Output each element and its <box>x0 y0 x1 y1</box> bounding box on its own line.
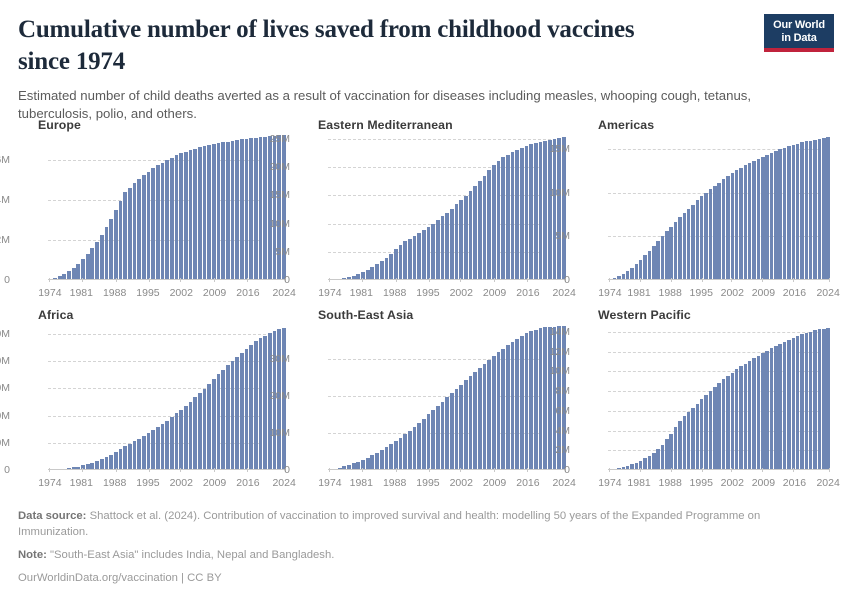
bar[interactable] <box>450 209 454 280</box>
y-axis-tick-label: 15M <box>270 189 290 201</box>
bar[interactable] <box>557 138 561 280</box>
bar[interactable] <box>142 175 146 280</box>
x-axis-tick-label: 1981 <box>627 287 650 299</box>
bar[interactable] <box>203 389 207 471</box>
bar[interactable] <box>696 404 699 470</box>
y-axis: 05M10M15M20M25M <box>294 136 324 280</box>
bar[interactable] <box>170 158 174 280</box>
bar[interactable] <box>778 149 781 280</box>
bar[interactable] <box>761 353 764 470</box>
bar[interactable] <box>142 436 146 470</box>
bar[interactable] <box>445 397 449 470</box>
bar[interactable] <box>478 368 482 470</box>
x-axis-tick-mark <box>362 278 363 282</box>
bar[interactable] <box>235 357 239 470</box>
bar[interactable] <box>259 338 263 470</box>
x-axis-tick-label: 1981 <box>350 287 373 299</box>
logo-line-2: in Data <box>768 32 830 45</box>
bar[interactable] <box>543 141 547 280</box>
bar[interactable] <box>189 150 193 280</box>
bar[interactable] <box>539 328 543 470</box>
bar[interactable] <box>105 227 109 280</box>
plot-area <box>328 136 566 280</box>
bar[interactable] <box>380 450 384 470</box>
bar[interactable] <box>700 196 703 280</box>
x-axis-tick-mark <box>609 468 610 472</box>
bar[interactable] <box>696 200 699 280</box>
bar[interactable] <box>562 137 566 280</box>
x-axis-tick-mark <box>116 468 117 472</box>
bar[interactable] <box>394 441 398 470</box>
plot-wrap: 02M4M6M8M10M12M14M1974198119881995200220… <box>574 326 830 470</box>
bar[interactable] <box>259 137 263 280</box>
panel-americas: Americas05M10M15M19741981198819952002200… <box>574 116 838 306</box>
bar[interactable] <box>193 149 197 280</box>
bar[interactable] <box>254 138 258 280</box>
bar[interactable] <box>529 144 533 280</box>
bar[interactable] <box>687 412 690 470</box>
bar[interactable] <box>534 143 538 280</box>
bar[interactable] <box>128 188 132 280</box>
bar[interactable] <box>431 410 435 470</box>
bar[interactable] <box>151 430 155 470</box>
bar[interactable] <box>282 135 286 280</box>
bar[interactable] <box>170 417 174 470</box>
bar[interactable] <box>483 364 487 470</box>
bar[interactable] <box>469 376 473 470</box>
bar[interactable] <box>800 142 803 280</box>
bar[interactable] <box>774 151 777 280</box>
bar[interactable] <box>635 264 638 280</box>
bar[interactable] <box>678 421 681 471</box>
bar[interactable] <box>175 155 179 280</box>
y-axis-tick-label: 2M <box>0 234 10 246</box>
bar[interactable] <box>744 165 747 280</box>
bar[interactable] <box>731 373 734 470</box>
bar[interactable] <box>487 360 491 470</box>
bar[interactable] <box>161 163 165 280</box>
bar[interactable] <box>525 333 529 470</box>
y-axis-tick-label: 0 <box>564 464 570 476</box>
bar[interactable] <box>683 416 686 470</box>
bar[interactable] <box>436 406 440 470</box>
bar[interactable] <box>739 168 742 280</box>
x-axis-tick-label: 2002 <box>721 287 744 299</box>
y-axis-tick-label: 20M <box>270 161 290 173</box>
panel-title: South-East Asia <box>318 306 574 322</box>
bar[interactable] <box>822 138 825 280</box>
bar[interactable] <box>422 230 426 280</box>
bar[interactable] <box>783 342 786 470</box>
bar[interactable] <box>683 213 686 280</box>
x-axis-tick-mark <box>527 278 528 282</box>
x-axis-tick-mark <box>82 278 83 282</box>
bar[interactable] <box>818 139 821 280</box>
bar[interactable] <box>249 138 253 280</box>
bar[interactable] <box>748 361 751 470</box>
bar[interactable] <box>648 251 651 280</box>
bar[interactable] <box>268 136 272 280</box>
bar[interactable] <box>520 148 524 280</box>
x-axis-tick-label: 2024 <box>816 477 839 489</box>
bar[interactable] <box>198 147 202 280</box>
bar[interactable] <box>175 413 179 470</box>
bar[interactable] <box>417 233 421 280</box>
y-axis-tick-label: 5M <box>275 246 290 258</box>
bar[interactable] <box>813 330 816 470</box>
x-axis-tick-label: 2009 <box>752 287 775 299</box>
logo-line-1: Our World <box>768 19 830 32</box>
y-axis-tick-label: 12M <box>550 346 570 358</box>
bar[interactable] <box>669 227 672 280</box>
bar[interactable] <box>656 241 659 280</box>
bar[interactable] <box>179 153 183 280</box>
bar[interactable] <box>735 170 738 280</box>
y-axis-tick-label: 30M <box>0 382 10 394</box>
bar[interactable] <box>792 338 795 470</box>
bar[interactable] <box>469 191 473 280</box>
x-axis-tick-label: 2016 <box>783 287 806 299</box>
bar[interactable] <box>722 379 725 470</box>
bar[interactable] <box>765 155 768 280</box>
bar[interactable] <box>156 165 160 280</box>
bar[interactable] <box>100 235 104 280</box>
bar[interactable] <box>553 139 557 280</box>
bar[interactable] <box>748 163 751 280</box>
bar[interactable] <box>385 447 389 470</box>
bar[interactable] <box>147 433 151 470</box>
panel-title: Europe <box>38 116 294 132</box>
bar[interactable] <box>207 384 211 470</box>
bar[interactable] <box>249 345 253 470</box>
bar[interactable] <box>203 146 207 280</box>
bar[interactable] <box>198 393 202 470</box>
bar[interactable] <box>403 241 407 280</box>
bar[interactable] <box>757 159 760 280</box>
bar[interactable] <box>455 389 459 470</box>
bar[interactable] <box>783 148 786 280</box>
bar[interactable] <box>739 366 742 470</box>
bar[interactable] <box>752 358 755 470</box>
bar[interactable] <box>501 157 505 280</box>
x-axis-tick-mark <box>116 278 117 282</box>
bar[interactable] <box>717 183 720 280</box>
bar[interactable] <box>674 222 677 280</box>
bar[interactable] <box>165 421 169 470</box>
bar[interactable] <box>277 135 281 280</box>
x-axis-tick-label: 2002 <box>450 287 473 299</box>
bar[interactable] <box>501 349 505 470</box>
bar[interactable] <box>464 196 468 280</box>
bar[interactable] <box>86 254 90 280</box>
bar[interactable] <box>515 339 519 470</box>
bar[interactable] <box>137 439 141 470</box>
bar[interactable] <box>147 172 151 280</box>
bar[interactable] <box>394 249 398 280</box>
bar[interactable] <box>652 453 655 470</box>
bar[interactable] <box>735 369 738 470</box>
bar[interactable] <box>678 217 681 280</box>
owid-logo[interactable]: Our World in Data <box>764 14 834 52</box>
bar[interactable] <box>417 423 421 470</box>
bar[interactable] <box>757 356 760 470</box>
bar[interactable] <box>826 137 829 280</box>
bar[interactable] <box>709 189 712 280</box>
x-axis-tick-mark <box>731 468 732 472</box>
bar[interactable] <box>674 427 677 470</box>
bar[interactable] <box>661 445 664 470</box>
bar[interactable] <box>464 380 468 470</box>
bar[interactable] <box>809 332 812 470</box>
bar[interactable] <box>240 139 244 280</box>
x-axis-tick-label: 1974 <box>38 287 61 299</box>
bar[interactable] <box>221 142 225 280</box>
bar[interactable] <box>713 186 716 280</box>
bar[interactable] <box>427 414 431 470</box>
bar[interactable] <box>506 345 510 470</box>
x-axis-tick-label: 1974 <box>318 287 341 299</box>
data-source-label: Data source: <box>18 510 86 522</box>
bar[interactable] <box>643 255 646 280</box>
bar[interactable] <box>661 236 664 280</box>
bar[interactable] <box>212 144 216 280</box>
bar[interactable] <box>726 176 729 280</box>
bar[interactable] <box>506 155 510 280</box>
x-axis-tick-label: 1988 <box>103 477 126 489</box>
bar[interactable] <box>380 261 384 280</box>
bar[interactable] <box>245 139 249 280</box>
bar[interactable] <box>427 227 431 280</box>
bar[interactable] <box>822 329 825 470</box>
bar[interactable] <box>403 434 407 470</box>
bar[interactable] <box>189 402 193 470</box>
bar[interactable] <box>652 246 655 280</box>
y-axis: 02M4M6M <box>14 136 44 280</box>
bar[interactable] <box>90 248 94 280</box>
bar[interactable] <box>709 391 712 470</box>
bar[interactable] <box>128 444 132 470</box>
bar[interactable] <box>375 453 379 470</box>
bar[interactable] <box>792 145 795 280</box>
bar[interactable] <box>263 336 267 470</box>
bar[interactable] <box>193 397 197 470</box>
bar[interactable] <box>184 406 188 470</box>
bar[interactable] <box>704 193 707 280</box>
bar[interactable] <box>179 410 183 470</box>
bar[interactable] <box>119 449 123 470</box>
footer-note: Note: "South-East Asia" includes India, … <box>18 547 832 563</box>
x-axis-tick-mark <box>527 468 528 472</box>
bar[interactable] <box>217 143 221 280</box>
bar[interactable] <box>744 364 747 470</box>
bar[interactable] <box>133 183 137 280</box>
bar[interactable] <box>413 427 417 470</box>
bar[interactable] <box>752 161 755 280</box>
bar[interactable] <box>778 344 781 470</box>
bar[interactable] <box>818 329 821 470</box>
bar[interactable] <box>254 341 258 470</box>
axis-baseline <box>48 469 286 470</box>
bar[interactable] <box>525 146 529 280</box>
x-axis-tick-label: 1995 <box>416 477 439 489</box>
bar[interactable] <box>787 340 790 470</box>
bar[interactable] <box>385 258 389 280</box>
bar[interactable] <box>389 254 393 280</box>
x-axis-tick-label: 1995 <box>136 477 159 489</box>
x-axis-tick-mark <box>214 468 215 472</box>
bar[interactable] <box>212 379 216 470</box>
bar[interactable] <box>217 374 221 470</box>
panel-europe: Europe02M4M6M197419811988199520022009201… <box>14 116 294 306</box>
bar[interactable] <box>399 438 403 470</box>
bar[interactable] <box>123 446 127 470</box>
bar[interactable] <box>511 342 515 470</box>
x-axis-tick-label: 1981 <box>627 477 650 489</box>
bar[interactable] <box>492 165 496 280</box>
x-axis-tick-mark <box>214 278 215 282</box>
bar[interactable] <box>492 356 496 470</box>
bar[interactable] <box>770 153 773 280</box>
panel-south-east-asia: South-East Asia010M20M30M197419811988199… <box>294 306 574 496</box>
bar[interactable] <box>413 236 417 280</box>
bar[interactable] <box>137 179 141 280</box>
bar[interactable] <box>123 192 127 280</box>
bar[interactable] <box>534 330 538 470</box>
bar[interactable] <box>805 333 808 470</box>
bar[interactable] <box>648 456 651 470</box>
bar[interactable] <box>700 399 703 470</box>
x-axis-tick-mark <box>247 468 248 472</box>
bar[interactable] <box>770 348 773 470</box>
plot-wrap: 05M10M15M20M25M1974198119881995200220092… <box>294 136 566 280</box>
bar[interactable] <box>459 385 463 470</box>
bar[interactable] <box>726 376 729 470</box>
bar[interactable] <box>704 395 707 470</box>
bar[interactable] <box>497 161 501 280</box>
bar[interactable] <box>399 245 403 280</box>
bar[interactable] <box>543 327 547 470</box>
bar[interactable] <box>691 408 694 470</box>
bar[interactable] <box>813 140 816 280</box>
bar[interactable] <box>548 140 552 280</box>
bar[interactable] <box>76 264 80 280</box>
bar[interactable] <box>487 170 491 280</box>
bar[interactable] <box>713 387 716 470</box>
bar[interactable] <box>441 402 445 470</box>
bar[interactable] <box>445 213 449 280</box>
bar[interactable] <box>455 204 459 280</box>
bar[interactable] <box>787 146 790 280</box>
plot-area <box>48 326 286 470</box>
axis-baseline <box>328 469 566 470</box>
bar[interactable] <box>691 205 694 280</box>
bar[interactable] <box>774 346 777 470</box>
bar[interactable] <box>119 201 123 280</box>
bar[interactable] <box>226 365 230 470</box>
bar[interactable] <box>240 353 244 470</box>
bar[interactable] <box>133 441 137 470</box>
bar[interactable] <box>478 181 482 280</box>
bar[interactable] <box>529 331 533 470</box>
bar[interactable] <box>761 157 764 280</box>
bar[interactable] <box>114 210 118 280</box>
bar[interactable] <box>422 419 426 471</box>
bar[interactable] <box>483 176 487 280</box>
bar[interactable] <box>722 179 725 280</box>
bar[interactable] <box>473 372 477 470</box>
x-axis-tick-label: 1974 <box>598 287 621 299</box>
bar[interactable] <box>161 424 165 470</box>
bar[interactable] <box>109 219 113 280</box>
bar[interactable] <box>796 144 799 280</box>
bar[interactable] <box>473 186 477 280</box>
plot-area <box>328 326 566 470</box>
bar[interactable] <box>151 168 155 280</box>
bar[interactable] <box>665 439 668 470</box>
bar[interactable] <box>441 216 445 280</box>
bar[interactable] <box>408 431 412 470</box>
bar[interactable] <box>805 141 808 280</box>
bar[interactable] <box>826 328 829 470</box>
bar[interactable] <box>375 264 379 280</box>
bar[interactable] <box>796 336 799 470</box>
bar[interactable] <box>436 220 440 280</box>
bar[interactable] <box>226 142 230 280</box>
bar[interactable] <box>687 209 690 280</box>
bar[interactable] <box>231 141 235 280</box>
bar[interactable] <box>450 393 454 470</box>
bar[interactable] <box>207 145 211 280</box>
x-axis-tick-mark <box>329 468 330 472</box>
bar[interactable] <box>389 444 393 470</box>
bar[interactable] <box>408 239 412 280</box>
bar[interactable] <box>95 242 99 280</box>
bar[interactable] <box>497 352 501 470</box>
bar[interactable] <box>235 140 239 280</box>
bar[interactable] <box>639 260 642 280</box>
bar[interactable] <box>231 361 235 470</box>
bar[interactable] <box>800 334 803 470</box>
bar[interactable] <box>717 383 720 470</box>
bar[interactable] <box>109 455 113 470</box>
bar[interactable] <box>539 142 543 280</box>
attribution-link[interactable]: OurWorldinData.org/vaccination | CC BY <box>18 572 222 584</box>
data-source-text: Shattock et al. (2024). Contribution of … <box>18 510 760 538</box>
bar[interactable] <box>731 173 734 280</box>
bar[interactable] <box>459 200 463 280</box>
bar[interactable] <box>520 336 524 470</box>
bar[interactable] <box>245 349 249 470</box>
bar[interactable] <box>809 141 812 280</box>
bar[interactable] <box>515 150 519 280</box>
bar[interactable] <box>656 449 659 470</box>
bar[interactable] <box>669 434 672 470</box>
x-axis-tick-label: 2009 <box>483 287 506 299</box>
bar[interactable] <box>765 351 768 470</box>
bar[interactable] <box>263 137 267 280</box>
bar[interactable] <box>165 160 169 280</box>
bar[interactable] <box>273 136 277 280</box>
bar[interactable] <box>221 370 225 470</box>
bar[interactable] <box>156 427 160 470</box>
bar[interactable] <box>665 231 668 280</box>
x-axis-tick-label: 1995 <box>690 287 713 299</box>
bar[interactable] <box>511 152 515 280</box>
bar[interactable] <box>81 259 85 280</box>
bar[interactable] <box>431 224 435 280</box>
bar[interactable] <box>370 455 374 470</box>
bar[interactable] <box>184 152 188 280</box>
